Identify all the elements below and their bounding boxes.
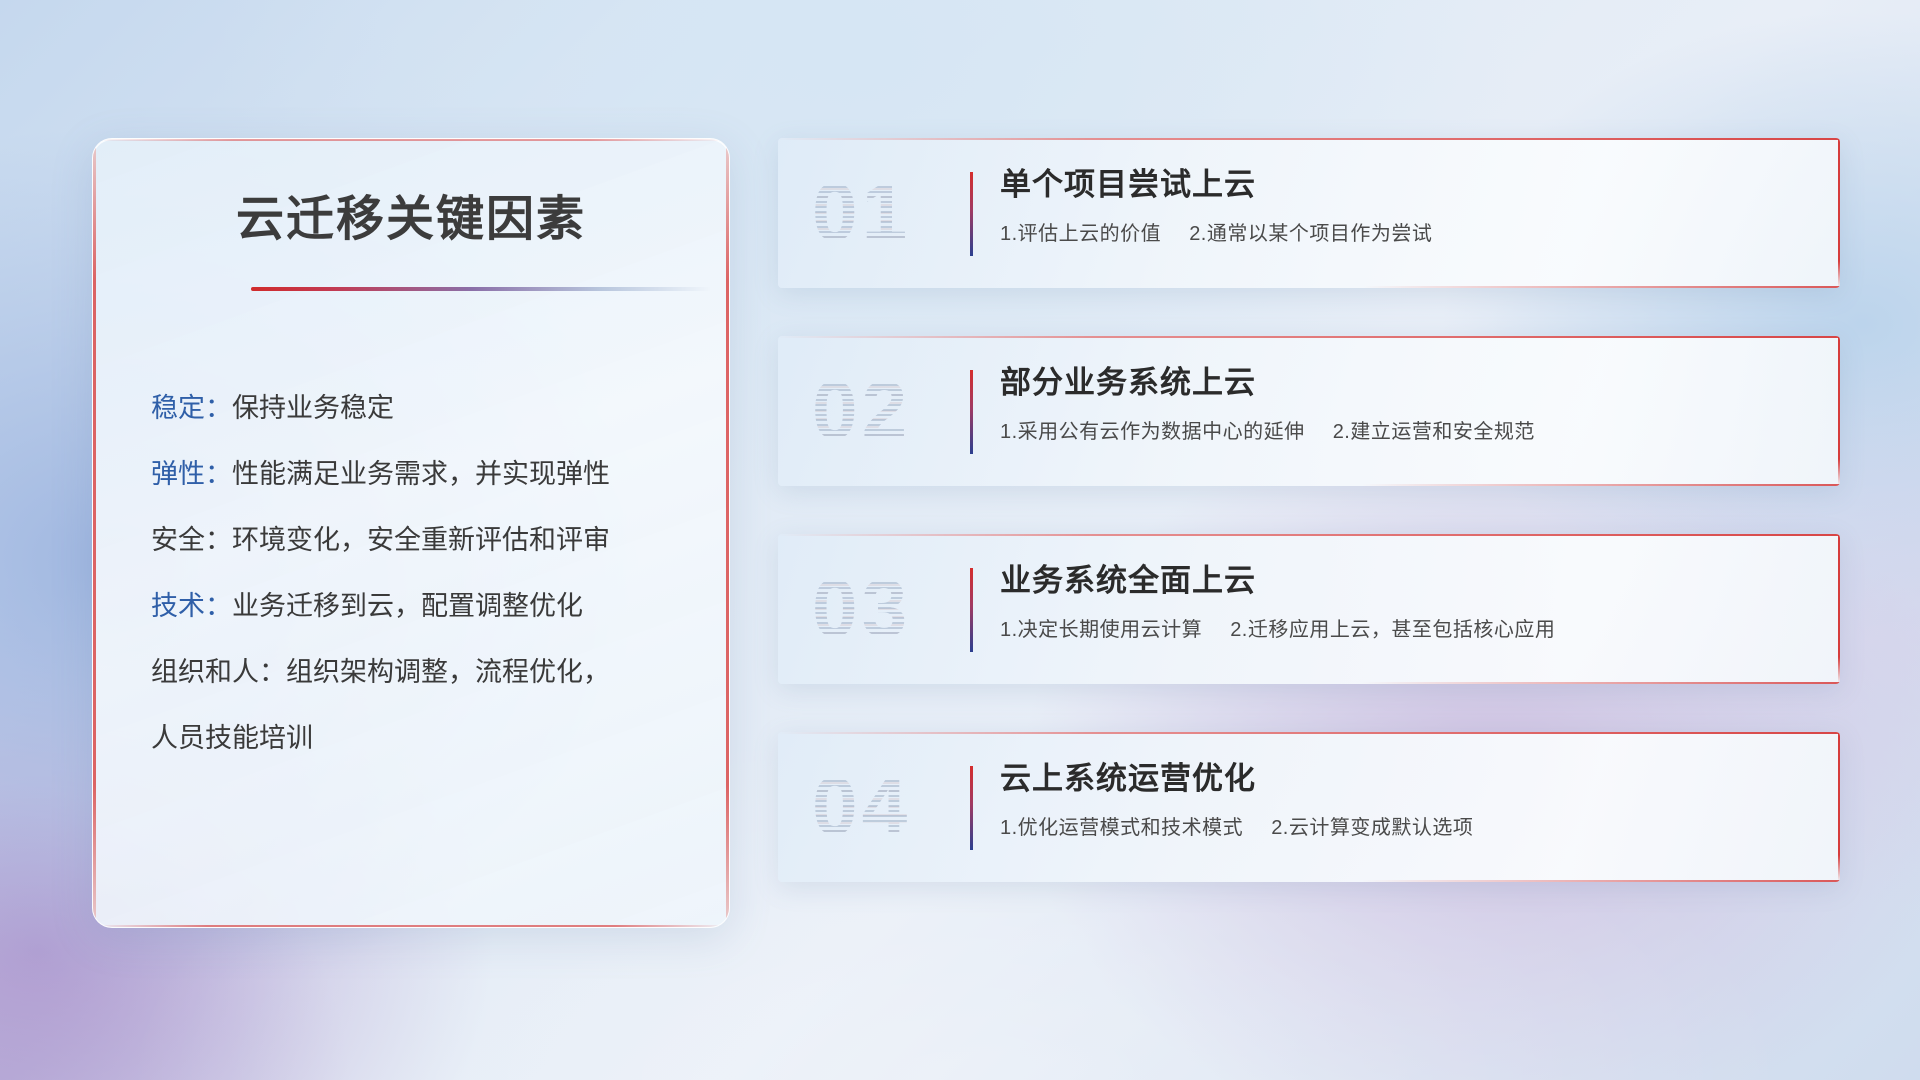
- factor-text: 环境变化，安全重新评估和评审: [232, 525, 610, 555]
- stage-body: 部分业务系统上云 1.采用公有云作为数据中心的延伸2.建立运营和安全规范: [1000, 362, 1814, 446]
- factor-label: 组织和人：: [151, 657, 286, 687]
- stage-description: 1.优化运营模式和技术模式2.云计算变成默认选项: [1000, 814, 1814, 842]
- stage-number: 02: [812, 364, 911, 458]
- stage-divider: [970, 568, 973, 652]
- panel-bottom-accent: [93, 925, 729, 927]
- stage-description-part-1: 1.采用公有云作为数据中心的延伸: [1000, 421, 1305, 443]
- stage-description-part-1: 1.评估上云的价值: [1000, 223, 1161, 245]
- stage-description: 1.采用公有云作为数据中心的延伸2.建立运营和安全规范: [1000, 418, 1814, 446]
- card-bottom-accent: [778, 286, 1840, 288]
- stage-description-part-2: 2.通常以某个项目作为尝试: [1189, 223, 1432, 245]
- factor-text: 组织架构调整，流程优化，: [286, 657, 610, 687]
- stage-description: 1.评估上云的价值2.通常以某个项目作为尝试: [1000, 220, 1814, 248]
- list-item: 组织和人：组织架构调整，流程优化，: [129, 639, 693, 705]
- stage-number: 03: [812, 562, 911, 656]
- list-item: 技术：业务迁移到云，配置调整优化: [129, 573, 693, 639]
- factor-label: 安全：: [151, 525, 232, 555]
- stage-description-part-2: 2.云计算变成默认选项: [1271, 817, 1473, 839]
- stage-description-part-2: 2.迁移应用上云，甚至包括核心应用: [1230, 619, 1555, 641]
- stage-number: 04: [812, 760, 911, 854]
- stage-body: 云上系统运营优化 1.优化运营模式和技术模式2.云计算变成默认选项: [1000, 758, 1814, 842]
- stage-title: 部分业务系统上云: [1000, 362, 1814, 404]
- stage-body: 业务系统全面上云 1.决定长期使用云计算2.迁移应用上云，甚至包括核心应用: [1000, 560, 1814, 644]
- stage-body: 单个项目尝试上云 1.评估上云的价值2.通常以某个项目作为尝试: [1000, 164, 1814, 248]
- stage-card-01[interactable]: 01 01 单个项目尝试上云 1.评估上云的价值2.通常以某个项目作为尝试: [778, 138, 1840, 288]
- card-bottom-accent: [778, 682, 1840, 684]
- stage-title: 业务系统全面上云: [1000, 560, 1814, 602]
- stage-description-part-1: 1.决定长期使用云计算: [1000, 619, 1202, 641]
- factor-list: 稳定：保持业务稳定 弹性：性能满足业务需求，并实现弹性 安全：环境变化，安全重新…: [93, 375, 729, 771]
- stage-description-part-2: 2.建立运营和安全规范: [1333, 421, 1535, 443]
- stage-divider: [970, 370, 973, 454]
- stage-card-02[interactable]: 02 02 部分业务系统上云 1.采用公有云作为数据中心的延伸2.建立运营和安全…: [778, 336, 1840, 486]
- card-bottom-accent: [778, 880, 1840, 882]
- key-factors-panel: 云迁移关键因素 稳定：保持业务稳定 弹性：性能满足业务需求，并实现弹性 安全：环…: [92, 138, 730, 928]
- stage-description-part-1: 1.优化运营模式和技术模式: [1000, 817, 1243, 839]
- factor-text: 保持业务稳定: [232, 393, 394, 423]
- list-item: 安全：环境变化，安全重新评估和评审: [129, 507, 693, 573]
- stage-title: 云上系统运营优化: [1000, 758, 1814, 800]
- stage-card-04[interactable]: 04 04 云上系统运营优化 1.优化运营模式和技术模式2.云计算变成默认选项: [778, 732, 1840, 882]
- page-title: 云迁移关键因素: [93, 179, 729, 249]
- factor-text: 业务迁移到云，配置调整优化: [232, 591, 583, 621]
- list-item: 弹性：性能满足业务需求，并实现弹性: [129, 441, 693, 507]
- panel-top-accent: [93, 139, 729, 141]
- stage-card-03[interactable]: 03 03 业务系统全面上云 1.决定长期使用云计算2.迁移应用上云，甚至包括核…: [778, 534, 1840, 684]
- stage-divider: [970, 766, 973, 850]
- factor-label: 技术：: [151, 591, 232, 621]
- stage-divider: [970, 172, 973, 256]
- stage-card-list: 01 01 单个项目尝试上云 1.评估上云的价值2.通常以某个项目作为尝试 02…: [778, 138, 1840, 930]
- factor-text: 性能满足业务需求，并实现弹性: [232, 459, 610, 489]
- title-underline: [251, 287, 711, 291]
- card-bottom-accent: [778, 484, 1840, 486]
- factor-label: 稳定：: [151, 393, 232, 423]
- factor-text: 人员技能培训: [151, 723, 313, 753]
- list-item: 人员技能培训: [129, 705, 693, 771]
- stage-title: 单个项目尝试上云: [1000, 164, 1814, 206]
- stage-description: 1.决定长期使用云计算2.迁移应用上云，甚至包括核心应用: [1000, 616, 1814, 644]
- list-item: 稳定：保持业务稳定: [129, 375, 693, 441]
- factor-label: 弹性：: [151, 459, 232, 489]
- stage-number: 01: [812, 166, 911, 260]
